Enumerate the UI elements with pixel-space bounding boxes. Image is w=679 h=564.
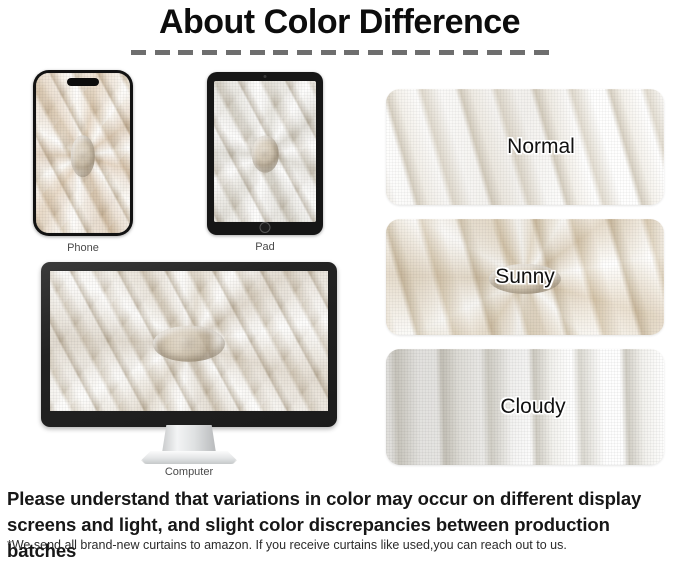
fabric-swirl-center [153, 326, 225, 362]
divider-dash [415, 50, 430, 55]
monitor-stand-neck [162, 425, 216, 453]
divider-dash [202, 50, 217, 55]
monitor-stand-base [141, 451, 237, 464]
condition-panel-cloudy: Cloudy [386, 349, 664, 465]
fabric-swirl-texture [36, 73, 130, 233]
condition-panel-sunny: Sunny [386, 219, 664, 335]
divider-dash [250, 50, 265, 55]
monitor-frame [41, 262, 337, 427]
divider-dash [155, 50, 170, 55]
phone-frame [33, 70, 133, 236]
divider-dash [463, 50, 478, 55]
computer-label: Computer [41, 466, 337, 478]
divider-dash [297, 50, 312, 55]
condition-label-normal: Normal [386, 135, 664, 159]
page-title: About Color Difference [0, 2, 679, 42]
dashed-divider [131, 50, 549, 55]
pad-home-button-icon [260, 222, 271, 233]
phone-dynamic-island-icon [67, 78, 99, 86]
monitor-screen-fabric-image [50, 271, 328, 411]
divider-dash [368, 50, 383, 55]
condition-label-cloudy: Cloudy [386, 395, 664, 419]
fabric-swirl-texture [214, 81, 316, 222]
divider-dash [487, 50, 502, 55]
phone-label: Phone [33, 242, 133, 254]
divider-dash [510, 50, 525, 55]
brand-new-footnote-text: *We send all brand-new curtains to amazo… [7, 537, 675, 553]
divider-dash [273, 50, 288, 55]
divider-dash [534, 50, 549, 55]
divider-dash [178, 50, 193, 55]
divider-dash [321, 50, 336, 55]
computer-mockup [41, 262, 337, 472]
pad-camera-icon [264, 75, 267, 78]
divider-dash [131, 50, 146, 55]
phone-screen-fabric-image [36, 73, 130, 233]
condition-panel-normal: Normal [386, 89, 664, 205]
pad-label: Pad [207, 241, 323, 253]
divider-dash [344, 50, 359, 55]
pad-mockup [207, 72, 323, 235]
pad-frame [207, 72, 323, 235]
phone-mockup [33, 70, 133, 236]
fabric-swirl-center [71, 135, 95, 177]
fabric-swirl-texture [50, 271, 328, 411]
fabric-swirl-center [252, 136, 279, 173]
divider-dash [226, 50, 241, 55]
condition-label-sunny: Sunny [386, 265, 664, 289]
pad-screen-fabric-image [214, 81, 316, 222]
divider-dash [439, 50, 454, 55]
divider-dash [392, 50, 407, 55]
